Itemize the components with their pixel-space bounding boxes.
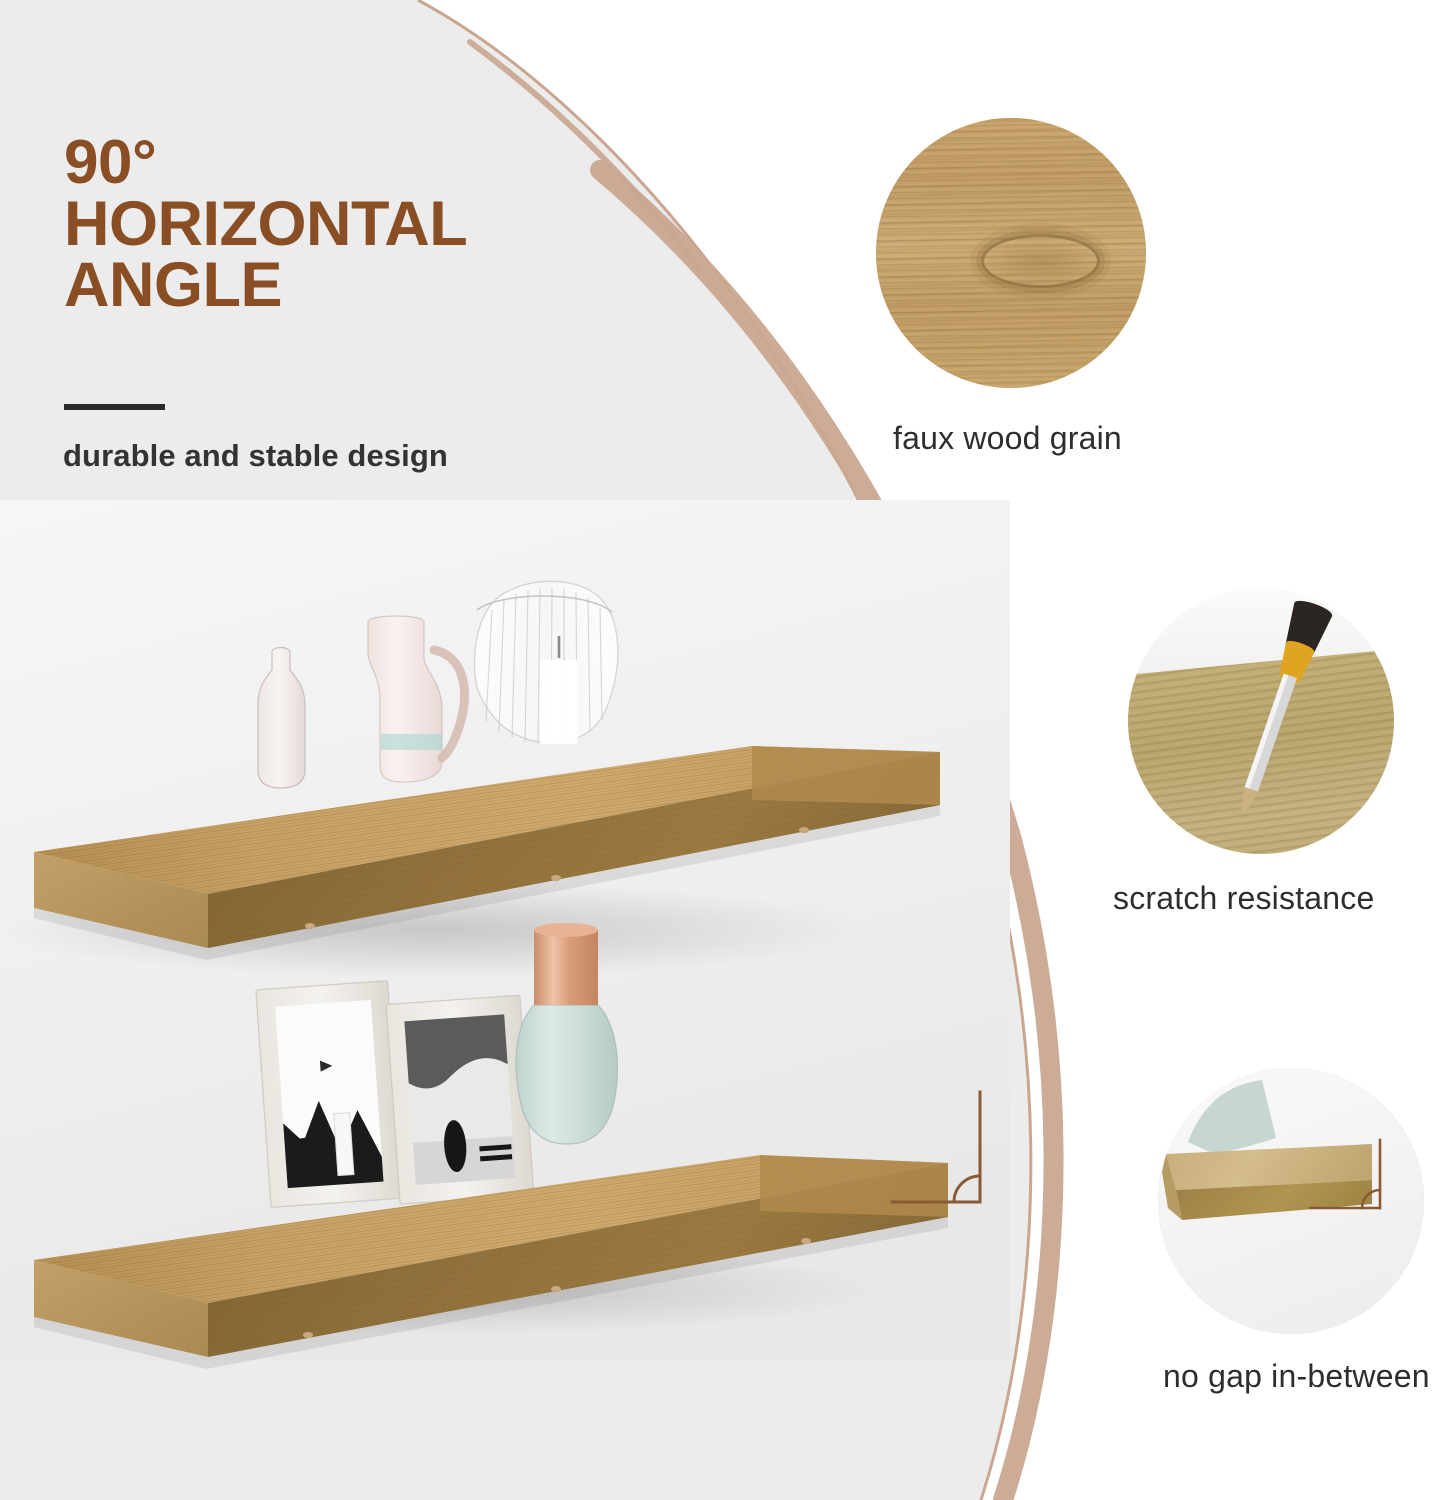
- shelf-scene: [0, 500, 1010, 1360]
- caption-faux-wood-grain: faux wood grain: [893, 420, 1122, 457]
- screwdriver-tip: [1238, 787, 1258, 812]
- angle-marker-main: [880, 1080, 1010, 1230]
- callout-scratch-resistance: [1128, 588, 1428, 928]
- no-gap-image: [1158, 1068, 1424, 1334]
- shelf-edge-closeup: [1158, 1068, 1424, 1334]
- screw-hole: [303, 1332, 313, 1338]
- copper-vase-neck: [534, 926, 598, 1006]
- teal-object: [1188, 1080, 1276, 1154]
- scratch-resistance-image: [1128, 588, 1394, 854]
- headline-angle-value: 90°: [64, 132, 624, 194]
- caption-no-gap-in-between: no gap in-between: [1163, 1358, 1430, 1395]
- headline-line-horizontal: HORIZONTAL: [64, 194, 624, 255]
- lower-shelf: [0, 1045, 980, 1375]
- headline-divider: [64, 404, 165, 410]
- screw-hole: [801, 1238, 811, 1244]
- screwdriver-icon: [1128, 588, 1394, 854]
- headline-subtitle: durable and stable design: [63, 438, 448, 474]
- product-feature-page: 90° HORIZONTAL ANGLE durable and stable …: [0, 0, 1445, 1500]
- callout-no-gap-in-between: [1158, 1068, 1445, 1408]
- caption-scratch-resistance: scratch resistance: [1113, 880, 1374, 917]
- headline-line-angle: ANGLE: [64, 255, 624, 316]
- copper-vase-rim: [534, 923, 598, 937]
- faux-wood-grain-swatch: [876, 118, 1146, 388]
- headline-block: 90° HORIZONTAL ANGLE: [64, 132, 624, 316]
